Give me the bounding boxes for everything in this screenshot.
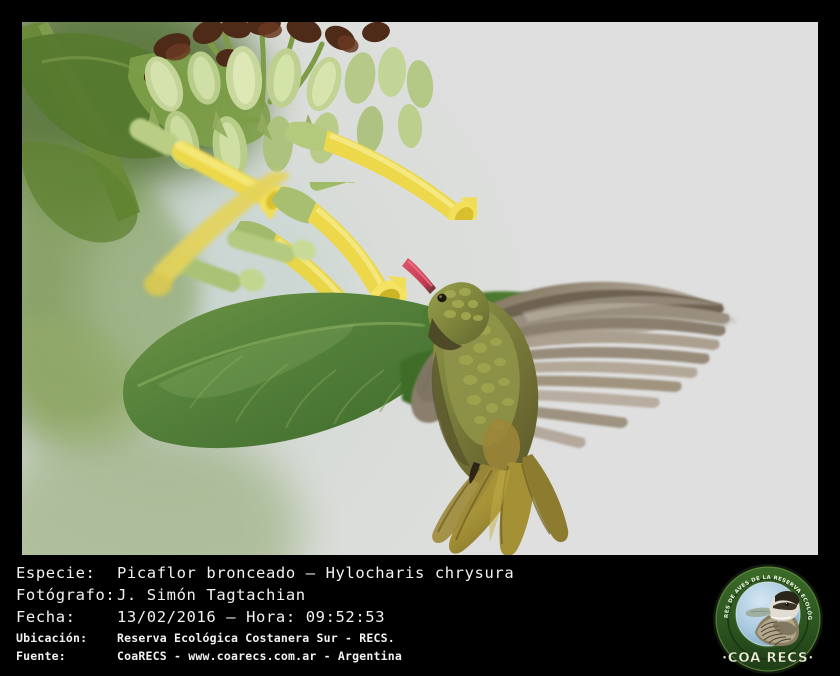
caption-label-fotografo: Fotógrafo:: [16, 586, 115, 604]
bird-bill: [402, 258, 436, 294]
caption-label-especie: Especie:: [16, 564, 95, 582]
caption-value-fuente: CoaRECS - www.coarecs.com.ar - Argentina: [117, 649, 402, 663]
caption-value-fecha: 13/02/2016 — Hora: 09:52:53: [117, 608, 385, 626]
caption-value-ubicacion: Reserva Ecológica Costanera Sur - RECS.: [117, 631, 395, 645]
hummingbird: [22, 22, 818, 555]
caption-value-fotografo: J. Simón Tagtachian: [117, 586, 306, 604]
caption-value-especie: Picaflor bronceado — Hylocharis chrysura: [117, 564, 514, 582]
photograph: [22, 22, 818, 555]
bird-head: [402, 258, 489, 350]
bird-eye: [437, 294, 446, 302]
caption-label-ubicacion: Ubicación:: [16, 631, 87, 645]
caption-label-fuente: Fuente:: [16, 649, 66, 663]
coa-recs-logo[interactable]: CLUB DE OBSERVADORES DE AVES DE LA RESER…: [711, 562, 825, 676]
caption-label-fecha: Fecha:: [16, 608, 76, 626]
logo-bottom-text: ·COA RECS·: [722, 650, 814, 666]
screenshot-root: Especie: Picaflor bronceado — Hylocharis…: [0, 0, 840, 668]
